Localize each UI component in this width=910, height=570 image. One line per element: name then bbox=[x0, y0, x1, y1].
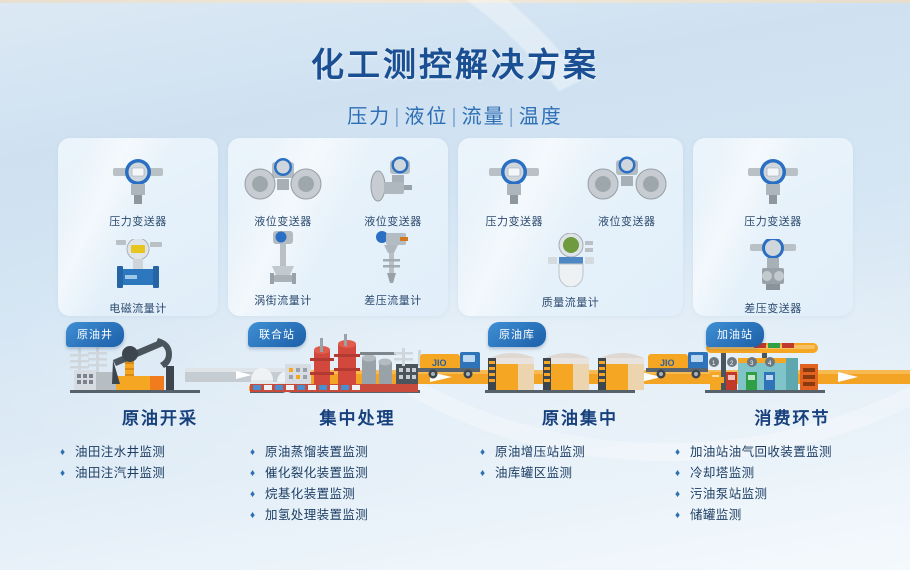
product-label: 液位变送器 bbox=[341, 213, 446, 229]
vortex-flowmeter-icon bbox=[231, 233, 336, 285]
svg-text:JIO: JIO bbox=[432, 358, 447, 368]
badge-gathering-station[interactable]: 联合站 bbox=[248, 322, 306, 347]
stage-item[interactable]: 油田注水井监测 bbox=[60, 442, 260, 463]
product-item[interactable]: 液位变送器 bbox=[574, 154, 679, 229]
product-item[interactable]: 压力变送器 bbox=[721, 154, 826, 229]
art-gas-station: 1 2 3 4 bbox=[700, 343, 818, 390]
product-card-row: 压力变送器 电磁流量计 bbox=[58, 138, 853, 316]
stage-item[interactable]: 污油泵站监测 bbox=[675, 484, 910, 505]
level-transmitter-flanged-icon bbox=[574, 154, 679, 206]
product-label: 差压变送器 bbox=[721, 300, 826, 316]
product-item[interactable]: 液位变送器 bbox=[231, 154, 336, 229]
differential-pressure-flowmeter-icon bbox=[341, 233, 446, 285]
stage-item[interactable]: 加氢处理装置监测 bbox=[250, 505, 465, 526]
product-card-3[interactable]: 压力变送器 液位变送器 bbox=[458, 138, 683, 316]
page-title: 化工测控解决方案 bbox=[0, 38, 910, 86]
product-item[interactable]: 差压变送器 bbox=[721, 241, 826, 316]
product-card-1[interactable]: 压力变送器 电磁流量计 bbox=[58, 138, 218, 316]
product-item[interactable]: 涡街流量计 bbox=[231, 233, 336, 308]
stage-items: 油田注水井监测 油田注汽井监测 bbox=[60, 442, 260, 484]
stage-heading: 原油开采 bbox=[60, 404, 260, 429]
stage-item[interactable]: 油库罐区监测 bbox=[480, 463, 680, 484]
stage-item[interactable]: 原油增压站监测 bbox=[480, 442, 680, 463]
pipeline-svg: JIO bbox=[0, 322, 910, 414]
electromagnetic-flowmeter-icon bbox=[86, 241, 191, 293]
product-label: 电磁流量计 bbox=[86, 300, 191, 316]
product-item[interactable]: 液位变送器 bbox=[341, 154, 446, 229]
subtitle-flow: 流量 bbox=[462, 106, 506, 128]
badge-crude-oil-depot[interactable]: 原油库 bbox=[488, 322, 546, 347]
subtitle-pressure: 压力 bbox=[347, 106, 391, 128]
subtitle-level: 液位 bbox=[404, 106, 448, 128]
stage-heading: 集中处理 bbox=[250, 404, 465, 429]
stage-block-storage: 原油集中 原油增压站监测 油库罐区监测 bbox=[480, 404, 680, 484]
badge-gas-station[interactable]: 加油站 bbox=[706, 322, 764, 347]
product-label: 压力变送器 bbox=[721, 213, 826, 229]
stage-item[interactable]: 催化裂化装置监测 bbox=[250, 463, 465, 484]
pressure-transmitter-icon bbox=[721, 154, 826, 206]
differential-pressure-transmitter-icon bbox=[721, 241, 826, 293]
stage-heading: 消费环节 bbox=[675, 404, 910, 429]
stage-item[interactable]: 加油站油气回收装置监测 bbox=[675, 442, 910, 463]
product-card-4[interactable]: 压力变送器 差压变送器 bbox=[693, 138, 853, 316]
subtitle-separator-2: | bbox=[451, 106, 458, 128]
svg-text:JIO: JIO bbox=[660, 358, 675, 368]
mass-flowmeter-icon bbox=[518, 235, 623, 287]
stage-block-processing: 集中处理 原油蒸馏装置监测 催化裂化装置监测 烷基化装置监测 加氢处理装置监测 bbox=[250, 404, 465, 526]
subtitle-separator-1: | bbox=[394, 106, 401, 128]
product-card-2[interactable]: 液位变送器 液位变送器 bbox=[228, 138, 448, 316]
art-oil-depot bbox=[488, 353, 644, 390]
subtitle-temperature: 温度 bbox=[519, 106, 563, 128]
pressure-transmitter-icon bbox=[462, 154, 567, 206]
pipeline-illustration: JIO bbox=[0, 322, 910, 414]
product-item[interactable]: 压力变送器 bbox=[462, 154, 567, 229]
product-label: 差压流量计 bbox=[341, 292, 446, 308]
level-transmitter-flanged-icon bbox=[231, 154, 336, 206]
pressure-transmitter-icon bbox=[86, 154, 191, 206]
stage-heading: 原油集中 bbox=[480, 404, 680, 429]
stage-item[interactable]: 烷基化装置监测 bbox=[250, 484, 465, 505]
subtitle-separator-3: | bbox=[509, 106, 516, 128]
page-subtitle: 压力|液位|流量|温度 bbox=[0, 100, 910, 129]
stage-item[interactable]: 油田注汽井监测 bbox=[60, 463, 260, 484]
product-label: 液位变送器 bbox=[574, 213, 679, 229]
stage-list: 原油开采 油田注水井监测 油田注汽井监测 集中处理 原油蒸馏装置监测 催化裂化装… bbox=[0, 404, 910, 554]
stage-item[interactable]: 冷却塔监测 bbox=[675, 463, 910, 484]
badge-crude-oil-well[interactable]: 原油井 bbox=[66, 322, 124, 347]
stage-item[interactable]: 原油蒸馏装置监测 bbox=[250, 442, 465, 463]
product-label: 压力变送器 bbox=[86, 213, 191, 229]
stage-block-extraction: 原油开采 油田注水井监测 油田注汽井监测 bbox=[60, 404, 260, 484]
stage-items: 原油蒸馏装置监测 催化裂化装置监测 烷基化装置监测 加氢处理装置监测 bbox=[250, 442, 465, 526]
header: 化工测控解决方案 压力|液位|流量|温度 bbox=[0, 38, 910, 129]
stage-item[interactable]: 储罐监测 bbox=[675, 505, 910, 526]
stage-items: 原油增压站监测 油库罐区监测 bbox=[480, 442, 680, 484]
product-item[interactable]: 质量流量计 bbox=[518, 235, 623, 310]
level-transmitter-single-flange-icon bbox=[341, 154, 446, 206]
stage-block-consumption: 消费环节 加油站油气回收装置监测 冷却塔监测 污油泵站监测 储罐监测 bbox=[675, 404, 910, 526]
product-item[interactable]: 电磁流量计 bbox=[86, 241, 191, 316]
top-accent-strip bbox=[0, 0, 910, 3]
product-label: 液位变送器 bbox=[231, 213, 336, 229]
product-label: 压力变送器 bbox=[462, 213, 567, 229]
product-label: 涡街流量计 bbox=[231, 292, 336, 308]
product-label: 质量流量计 bbox=[518, 294, 623, 310]
product-item[interactable]: 差压流量计 bbox=[341, 233, 446, 308]
product-item[interactable]: 压力变送器 bbox=[86, 154, 191, 229]
stage-items: 加油站油气回收装置监测 冷却塔监测 污油泵站监测 储罐监测 bbox=[675, 442, 910, 526]
